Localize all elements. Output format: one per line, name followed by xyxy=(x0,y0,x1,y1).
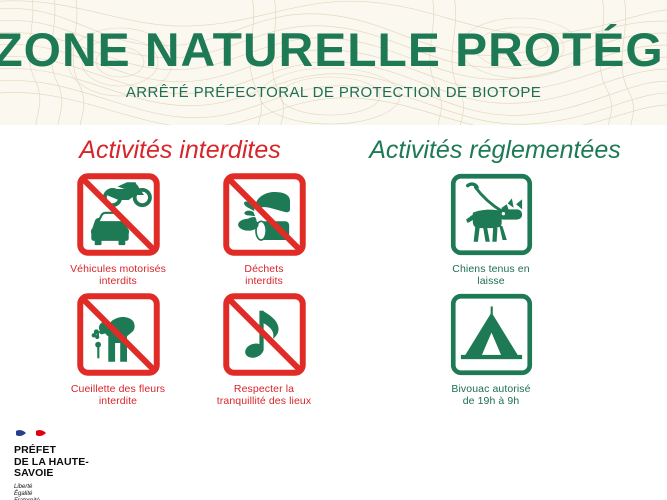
item-label-line2: interdits xyxy=(245,275,283,287)
prefecture-name-line1: PRÉFET xyxy=(14,444,56,456)
item-label-line1: Chiens tenus en xyxy=(452,263,529,275)
item-label-line2: interdite xyxy=(99,395,137,407)
item-flower-picking-forbidden: Cueillette des fleurs interdite xyxy=(54,292,182,407)
item-label-line1: Bivouac autorisé xyxy=(451,383,530,395)
music-note-icon xyxy=(222,292,307,377)
item-label-line2: interdits xyxy=(99,275,137,287)
item-label-line1: Véhicules motorisés xyxy=(70,263,166,275)
motto-egalite: Égalité xyxy=(14,491,32,497)
page-title: ZONE NATURELLE PROTÉGÉE xyxy=(0,24,667,76)
heading-forbidden-activities: Activités interdites xyxy=(25,136,335,165)
flower-picking-icon xyxy=(76,292,161,377)
page-subtitle: ARRÊTÉ PRÉFECTORAL DE PROTECTION DE BIOT… xyxy=(0,84,667,101)
prefecture-name-line3: SAVOIE xyxy=(14,467,54,479)
poster: ZONE NATURELLE PROTÉGÉE ARRÊTÉ PRÉFECTOR… xyxy=(0,0,667,500)
prefecture-name: PRÉFET DE LA HAUTE- SAVOIE xyxy=(14,445,134,480)
item-label-line1: Respecter la xyxy=(234,383,294,395)
french-flag-icon xyxy=(14,428,56,442)
tent-icon xyxy=(449,292,534,377)
item-noise-forbidden: Respecter la tranquillité des lieux xyxy=(200,292,328,407)
republic-motto: Liberté Égalité Fraternité xyxy=(14,484,134,500)
item-vehicles-forbidden: Véhicules motorisés interdits xyxy=(54,172,182,287)
dog-on-leash-icon xyxy=(449,172,534,257)
poster-footer: PRÉFET DE LA HAUTE- SAVOIE Liberté Égali… xyxy=(0,420,667,500)
prefecture-logo: PRÉFET DE LA HAUTE- SAVOIE Liberté Égali… xyxy=(14,428,134,500)
item-bivouac-allowed: Bivouac autorisé de 19h à 9h xyxy=(426,292,556,407)
item-label-line2: de 19h à 9h xyxy=(463,395,520,407)
item-label-line1: Déchets xyxy=(244,263,283,275)
item-waste-forbidden: Déchets interdits xyxy=(200,172,328,287)
motorcycle-car-icon xyxy=(76,172,161,257)
motto-liberte: Liberté xyxy=(14,484,32,490)
item-label-line2: tranquillité des lieux xyxy=(217,395,311,407)
item-label-line2: laisse xyxy=(477,275,504,287)
prefecture-name-line2: DE LA HAUTE- xyxy=(14,456,89,468)
heading-regulated-activities: Activités réglementées xyxy=(345,136,645,165)
item-dogs-on-leash: Chiens tenus en laisse xyxy=(426,172,556,287)
item-label-line1: Cueillette des fleurs xyxy=(71,383,165,395)
poster-header: ZONE NATURELLE PROTÉGÉE ARRÊTÉ PRÉFECTOR… xyxy=(0,0,667,125)
hand-litter-icon xyxy=(222,172,307,257)
